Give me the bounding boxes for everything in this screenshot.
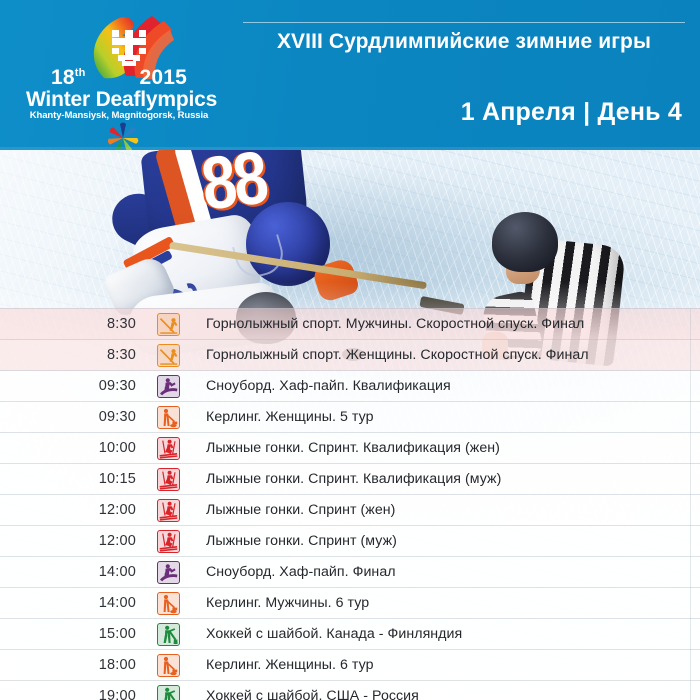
event-time: 15:00 [0, 626, 150, 642]
event-time: 09:30 [0, 409, 150, 425]
event-label: Горнолыжный спорт. Женщины. Скоростной с… [186, 347, 700, 363]
event-time: 14:00 [0, 595, 150, 611]
event-time: 10:15 [0, 471, 150, 487]
event-label: Хоккей с шайбой. Канада - Финляндия [186, 626, 700, 642]
cross-country-skiing-icon [157, 437, 180, 460]
sport-icon-cell [150, 437, 186, 460]
deaflympics-pinwheel-icon [102, 122, 144, 150]
schedule-row[interactable]: 12:00Лыжные гонки. Спринт (жен) [0, 495, 700, 526]
header-day-label: 1 Апреля | День 4 [461, 98, 682, 127]
event-label: Керлинг. Мужчины. 6 тур [186, 595, 700, 611]
schedule-row[interactable]: 09:30Керлинг. Женщины. 5 тур [0, 402, 700, 433]
schedule-row[interactable]: 10:00Лыжные гонки. Спринт. Квалификация … [0, 433, 700, 464]
event-time: 19:00 [0, 688, 150, 700]
sport-icon-cell [150, 592, 186, 615]
event-label: Сноуборд. Хаф-пайп. Квалификация [186, 378, 700, 394]
sport-icon-cell [150, 530, 186, 553]
event-label: Хоккей с шайбой. США - Россия [186, 688, 700, 700]
alpine-skiing-icon [157, 344, 180, 367]
schedule-row[interactable]: 10:15Лыжные гонки. Спринт. Квалификация … [0, 464, 700, 495]
sport-icon-cell [150, 313, 186, 336]
alpine-skiing-icon [157, 313, 180, 336]
sport-icon-cell [150, 685, 186, 700]
curling-icon [157, 406, 180, 429]
snowboard-icon [157, 561, 180, 584]
schedule-row[interactable]: 8:30Горнолыжный спорт. Мужчины. Скоростн… [0, 308, 700, 340]
event-label: Лыжные гонки. Спринт. Квалификация (муж) [186, 471, 700, 487]
event-label: Лыжные гонки. Спринт. Квалификация (жен) [186, 440, 700, 456]
event-time: 8:30 [0, 316, 150, 332]
sport-icon-cell [150, 344, 186, 367]
ice-hockey-icon [157, 623, 180, 646]
event-time: 18:00 [0, 657, 150, 673]
page-title: XVIII Сурдлимпийские зимние игры [243, 30, 685, 54]
event-label: Лыжные гонки. Спринт (жен) [186, 502, 700, 518]
emblem-name: Winter Deaflympics [26, 88, 212, 112]
schedule-row[interactable]: 14:00Сноуборд. Хаф-пайп. Финал [0, 557, 700, 588]
schedule-row[interactable]: 09:30Сноуборд. Хаф-пайп. Квалификация [0, 371, 700, 402]
sport-icon-cell [150, 623, 186, 646]
event-time: 12:00 [0, 502, 150, 518]
event-label: Керлинг. Женщины. 6 тур [186, 657, 700, 673]
event-label: Горнолыжный спорт. Мужчины. Скоростной с… [186, 316, 700, 332]
schedule-list: 8:30Горнолыжный спорт. Мужчины. Скоростн… [0, 308, 700, 700]
emblem-location: Khanty-Mansiysk, Magnitogorsk, Russia [26, 110, 212, 121]
emblem-edition-number: 18 [51, 66, 75, 89]
sport-icon-cell [150, 654, 186, 677]
event-label: Сноуборд. Хаф-пайп. Финал [186, 564, 700, 580]
schedule-row[interactable]: 19:00Хоккей с шайбой. США - Россия [0, 681, 700, 700]
list-right-rule [690, 308, 691, 700]
cross-country-skiing-icon [157, 499, 180, 522]
header-divider-rule [243, 22, 685, 23]
event-time: 10:00 [0, 440, 150, 456]
sport-icon-cell [150, 406, 186, 429]
event-time: 09:30 [0, 378, 150, 394]
deaflympics-schedule-page: 18th2015 Winter Deaflympics Khanty-Mansi… [0, 0, 700, 700]
ice-hockey-icon [157, 685, 180, 700]
snowboard-icon [157, 375, 180, 398]
emblem-year-row: 18th2015 [26, 66, 212, 90]
event-label: Керлинг. Женщины. 5 тур [186, 409, 700, 425]
deaflympics-emblem: 18th2015 Winter Deaflympics Khanty-Mansi… [26, 6, 212, 148]
schedule-row[interactable]: 8:30Горнолыжный спорт. Женщины. Скоростн… [0, 340, 700, 371]
curling-icon [157, 592, 180, 615]
event-time: 14:00 [0, 564, 150, 580]
emblem-edition-suffix: th [75, 67, 86, 79]
referee-helmet [492, 212, 558, 272]
sport-icon-cell [150, 375, 186, 398]
schedule-row[interactable]: 15:00Хоккей с шайбой. Канада - Финляндия [0, 619, 700, 650]
event-time: 8:30 [0, 347, 150, 363]
cross-country-skiing-icon [157, 530, 180, 553]
event-label: Лыжные гонки. Спринт (муж) [186, 533, 700, 549]
emblem-year: 2015 [140, 66, 188, 89]
sport-icon-cell [150, 499, 186, 522]
schedule-row[interactable]: 18:00Керлинг. Женщины. 6 тур [0, 650, 700, 681]
page-header: 18th2015 Winter Deaflympics Khanty-Mansi… [0, 0, 700, 150]
cross-country-skiing-icon [157, 468, 180, 491]
schedule-row[interactable]: 12:00Лыжные гонки. Спринт (муж) [0, 526, 700, 557]
sport-icon-cell [150, 561, 186, 584]
event-time: 12:00 [0, 533, 150, 549]
sport-icon-cell [150, 468, 186, 491]
schedule-row[interactable]: 14:00Керлинг. Мужчины. 6 тур [0, 588, 700, 619]
curling-icon [157, 654, 180, 677]
